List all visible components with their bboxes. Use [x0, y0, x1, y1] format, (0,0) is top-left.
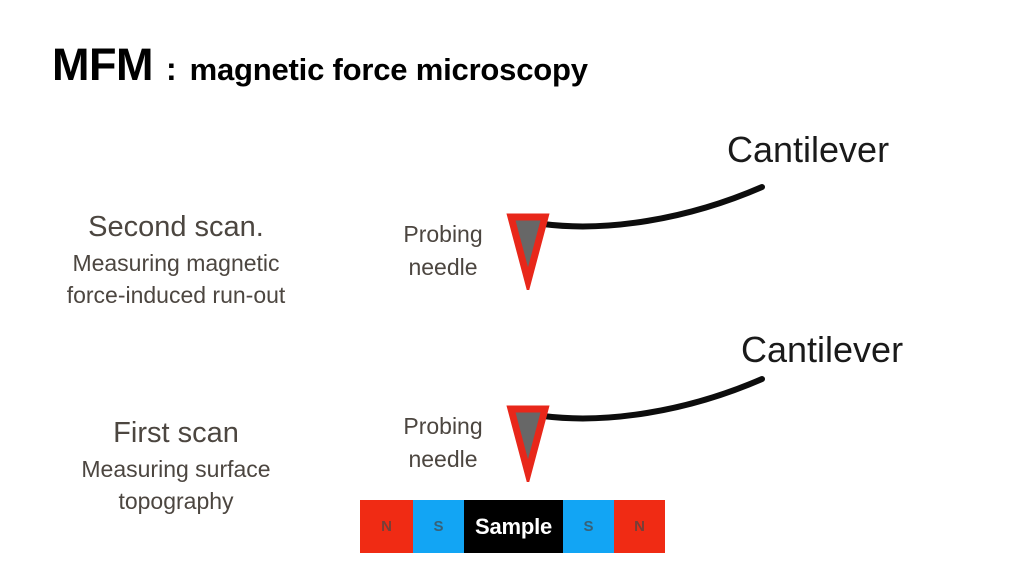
probing-needle-label-bottom-line2: needle [373, 443, 513, 476]
title-colon: : [166, 53, 177, 85]
probing-needle-label-bottom-line1: Probing [373, 410, 513, 443]
sample-bar-segment-north-right: N [614, 500, 665, 553]
page-title: MFM : magnetic force microscopy [52, 42, 588, 87]
caption-second-scan: Second scan. Measuring magnetic force-in… [26, 210, 326, 312]
probe-assembly-top [496, 180, 786, 290]
cantilever-beam-icon [543, 379, 762, 418]
cantilever-beam-icon [543, 187, 762, 226]
title-acronym: MFM [52, 42, 153, 87]
sample-bar-segment-north-left: N [360, 500, 413, 553]
cantilever-label-bottom: Cantilever [741, 332, 903, 368]
sample-bar: N S Sample S N [360, 500, 665, 553]
probing-needle-label-top-line1: Probing [373, 218, 513, 251]
cantilever-label-top: Cantilever [727, 132, 889, 168]
probe-assembly-bottom [496, 372, 786, 482]
caption-first-scan-subtext: Measuring surface topography [26, 454, 326, 517]
sample-bar-segment-sample-label: Sample [475, 516, 552, 538]
probing-needle-label-top: Probing needle [373, 218, 513, 283]
sample-bar-segment-sample: Sample [464, 500, 563, 553]
sample-bar-segment-south-right: S [563, 500, 614, 553]
caption-second-scan-sub-line1: Measuring magnetic [26, 248, 326, 280]
sample-bar-segment-north-right-label: N [634, 519, 645, 534]
probe-tip-triangle-icon [511, 217, 545, 281]
caption-first-scan: First scan Measuring surface topography [26, 416, 326, 518]
probing-needle-label-bottom: Probing needle [373, 410, 513, 475]
probe-assembly-bottom-svg [496, 372, 786, 482]
probe-assembly-top-svg [496, 180, 786, 290]
caption-second-scan-sub-line2: force-induced run-out [26, 280, 326, 312]
sample-bar-segment-south-right-label: S [583, 519, 593, 534]
probe-tip-triangle-icon [511, 409, 545, 473]
caption-second-scan-subtext: Measuring magnetic force-induced run-out [26, 248, 326, 311]
caption-first-scan-sub-line2: topography [26, 486, 326, 518]
caption-second-scan-heading: Second scan. [26, 210, 326, 244]
probing-needle-label-top-line2: needle [373, 251, 513, 284]
sample-bar-segment-north-left-label: N [381, 519, 392, 534]
caption-first-scan-heading: First scan [26, 416, 326, 450]
sample-bar-segment-south-left: S [413, 500, 464, 553]
sample-bar-segment-south-left-label: S [433, 519, 443, 534]
title-expansion: magnetic force microscopy [190, 54, 588, 85]
mfm-diagram-slide: MFM : magnetic force microscopy Second s… [0, 0, 1024, 576]
caption-first-scan-sub-line1: Measuring surface [26, 454, 326, 486]
